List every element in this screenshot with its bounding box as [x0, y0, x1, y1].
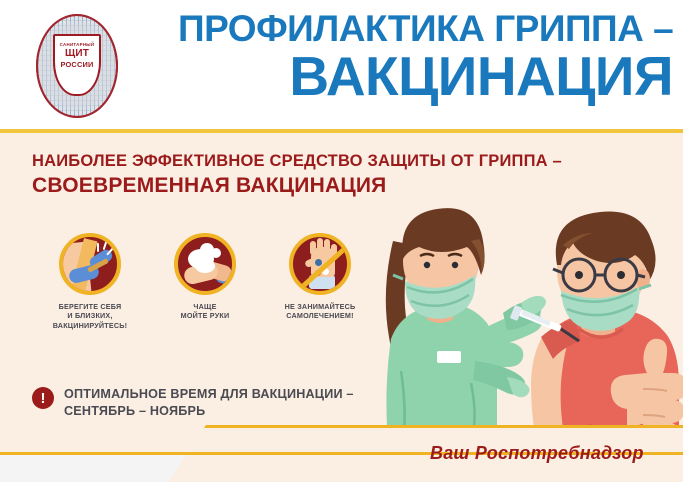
- footer-signature: Ваш Роспотребнадзор: [430, 443, 644, 464]
- shield-icon: САНИТАРНЫЙ ЩИТ РОССИИ: [53, 34, 101, 96]
- sanitary-shield-of-russia-emblem: САНИТАРНЫЙ ЩИТ РОССИИ: [22, 10, 130, 122]
- nurse-vaccinating-patient-illustration: [375, 133, 683, 453]
- optimal-time-note-text: ОПТИМАЛЬНОЕ ВРЕМЯ ДЛЯ ВАКЦИНАЦИИ – СЕНТЯ…: [64, 386, 354, 420]
- advice-icon-row: БЕРЕГИТЕ СЕБЯ И БЛИЗКИХ, ВАКЦИНИРУЙТЕСЬ!…: [30, 233, 380, 363]
- page-title-line-1: ПРОФИЛАКТИКА ГРИППА –: [178, 8, 673, 50]
- hand-washing-soap-icon: [174, 233, 236, 295]
- flu-prevention-poster: САНИТАРНЫЙ ЩИТ РОССИИ ПРОФИЛАКТИКА ГРИПП…: [0, 0, 683, 482]
- poster-header: САНИТАРНЫЙ ЩИТ РОССИИ ПРОФИЛАКТИКА ГРИПП…: [0, 0, 683, 133]
- emblem-line-3: РОССИИ: [60, 60, 93, 69]
- advice-item-wash-hands: ЧАЩЕ МОЙТЕ РУКИ: [145, 233, 265, 321]
- exclamation-mark-icon: !: [32, 387, 54, 409]
- advice-caption: ЧАЩЕ МОЙТЕ РУКИ: [145, 302, 265, 321]
- page-title-line-2: ВАКЦИНАЦИЯ: [178, 46, 673, 106]
- page-title: ПРОФИЛАКТИКА ГРИППА – ВАКЦИНАЦИЯ: [178, 8, 673, 106]
- advice-caption: БЕРЕГИТЕ СЕБЯ И БЛИЗКИХ, ВАКЦИНИРУЙТЕСЬ!: [30, 302, 150, 330]
- advice-item-no-self-medication: НЕ ЗАНИМАЙТЕСЬ САМОЛЕЧЕНИЕМ!: [260, 233, 380, 321]
- advice-item-vaccinate: БЕРЕГИТЕ СЕБЯ И БЛИЗКИХ, ВАКЦИНИРУЙТЕСЬ!: [30, 233, 150, 330]
- arm-vaccination-syringe-icon: [59, 233, 121, 295]
- exclamation-glyph: !: [41, 391, 46, 406]
- poster-body: НАИБОЛЕЕ ЭФФЕКТИВНОЕ СРЕДСТВО ЗАЩИТЫ ОТ …: [0, 133, 683, 453]
- emblem-line-2: ЩИТ: [65, 48, 89, 60]
- advice-caption: НЕ ЗАНИМАЙТЕСЬ САМОЛЕЧЕНИЕМ!: [260, 302, 380, 321]
- optimal-time-note: ! ОПТИМАЛЬНОЕ ВРЕМЯ ДЛЯ ВАКЦИНАЦИИ – СЕН…: [32, 386, 354, 420]
- no-self-medication-pills-prohibited-icon: [289, 233, 351, 295]
